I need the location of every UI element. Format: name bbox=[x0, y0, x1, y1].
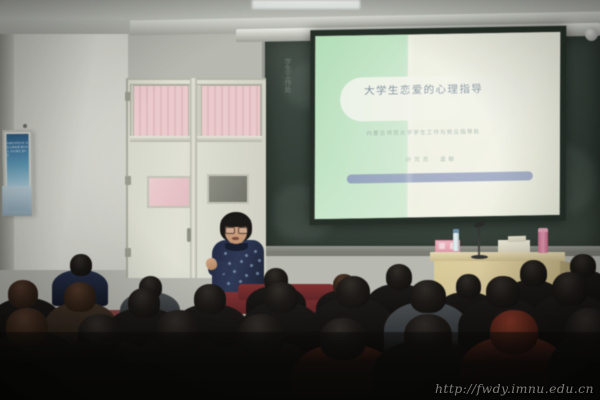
slide-title: 大学生恋爱的心理指导 bbox=[364, 80, 545, 98]
audience-head bbox=[8, 280, 38, 308]
audience-head bbox=[552, 272, 588, 306]
presenter-fringe bbox=[221, 216, 251, 227]
water-bottle-cap bbox=[453, 229, 459, 233]
blackboard-chalk-writing: 学生工作处 bbox=[283, 58, 292, 138]
audience-head bbox=[486, 276, 520, 308]
door-panel-left bbox=[147, 176, 191, 208]
slide-green-band bbox=[315, 35, 409, 220]
poster-hook bbox=[23, 124, 27, 128]
audience-head bbox=[264, 282, 298, 313]
audience-head bbox=[520, 260, 547, 287]
fluorescent-ceiling-light-icon bbox=[252, 0, 360, 9]
door-glass-pane-left bbox=[133, 85, 189, 137]
wall-poster-text: 内蒙古师范大学 学生公寓管理 服务中心 文化建设 宣传栏 bbox=[7, 142, 29, 158]
screen-surface: 大学生恋爱的心理指导 内蒙古师范大学学生工作与就业指导处 研究员 温敏 bbox=[315, 32, 561, 219]
audience-head bbox=[194, 284, 226, 314]
screen-light-seam bbox=[408, 34, 413, 217]
presentation-slide: 大学生恋爱的心理指导 内蒙古师范大学学生工作与就业指导处 研究员 温敏 bbox=[315, 32, 561, 219]
audience-head bbox=[70, 254, 92, 276]
wall-poster-lower-panel bbox=[2, 186, 32, 216]
audience-head bbox=[128, 288, 160, 318]
projection-screen: 大学生恋爱的心理指导 内蒙古师范大学学生工作与就业指导处 研究员 温敏 bbox=[310, 26, 567, 225]
door-panel-right bbox=[207, 174, 249, 204]
pink-thermos-cap bbox=[538, 228, 548, 232]
audience-head bbox=[64, 282, 96, 312]
lecture-hall-photo: 学生工作处 大学生恋爱的心理指导 内蒙古师范大学学生工作与就业指导处 研究员 温… bbox=[0, 0, 600, 400]
slide-cream-area bbox=[408, 32, 561, 218]
audience-head bbox=[336, 276, 370, 308]
audience-head bbox=[386, 264, 412, 290]
glasses-icon bbox=[225, 227, 247, 232]
audience-head bbox=[410, 280, 446, 313]
door-glass-pane-right bbox=[201, 85, 261, 137]
watermark-url: http://fwdy.imnu.edu.cn bbox=[435, 381, 594, 396]
audience-head bbox=[456, 274, 481, 299]
